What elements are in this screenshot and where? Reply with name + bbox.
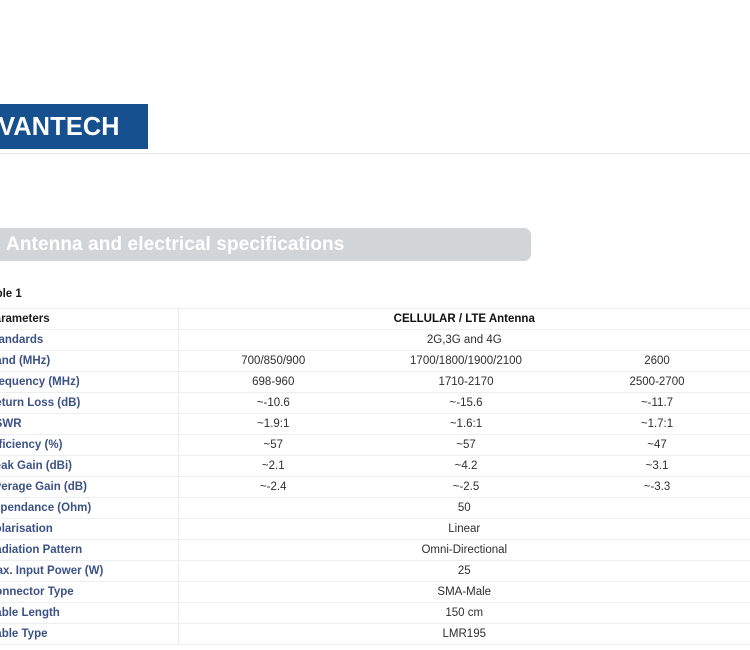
table-row-label: Cable Type bbox=[0, 624, 178, 645]
table-row-label: Peak Gain (dBi) bbox=[0, 456, 178, 477]
table-row: Efficiency (%)~57~57~47 bbox=[0, 435, 750, 456]
table-row-label: Parameters bbox=[0, 309, 178, 330]
table-row: Standards2G,3G and 4G bbox=[0, 330, 750, 351]
table-row: ParametersCELLULAR / LTE Antenna bbox=[0, 309, 750, 330]
table-cell: CELLULAR / LTE Antenna bbox=[178, 309, 750, 330]
table-cell: ~-3.3 bbox=[564, 477, 750, 498]
table-row-label: Impendance (Ohm) bbox=[0, 498, 178, 519]
table-cell: ~-11.7 bbox=[564, 393, 750, 414]
table-row: Cable Length150 cm bbox=[0, 603, 750, 624]
table-row: Frequency (MHz)698-9601710-21702500-2700 bbox=[0, 372, 750, 393]
table-cell: 1710-2170 bbox=[368, 372, 564, 393]
table-cell: ~1.9:1 bbox=[178, 414, 368, 435]
table-row: Return Loss (dB)~-10.6~-15.6~-11.7 bbox=[0, 393, 750, 414]
table-cell: 150 cm bbox=[178, 603, 750, 624]
table-row-label: Cable Length bbox=[0, 603, 178, 624]
table-row-label: Efficiency (%) bbox=[0, 435, 178, 456]
table-row-label: Radiation Pattern bbox=[0, 540, 178, 561]
antenna-spec-table: ParametersCELLULAR / LTE AntennaStandard… bbox=[0, 308, 750, 645]
table-cell: ~57 bbox=[178, 435, 368, 456]
table-cell: ~3.1 bbox=[564, 456, 750, 477]
table-row: Max. Input Power (W)25 bbox=[0, 561, 750, 582]
table-cell: Linear bbox=[178, 519, 750, 540]
table-row: VSWR~1.9:1~1.6:1~1.7:1 bbox=[0, 414, 750, 435]
table-row: Peak Gain (dBi)~2.1~4.2~3.1 bbox=[0, 456, 750, 477]
table-cell: ~57 bbox=[368, 435, 564, 456]
advantech-logo-text: ADVANTECH bbox=[0, 111, 120, 142]
table-row: Connector TypeSMA-Male bbox=[0, 582, 750, 603]
table-cell: Omni-Directional bbox=[178, 540, 750, 561]
table-cell: ~-15.6 bbox=[368, 393, 564, 414]
table-cell: 1700/1800/1900/2100 bbox=[368, 351, 564, 372]
table-cell: ~2.1 bbox=[178, 456, 368, 477]
table-row-label: Standards bbox=[0, 330, 178, 351]
header-divider bbox=[0, 153, 750, 154]
table-cell: ~4.2 bbox=[368, 456, 564, 477]
section-header-bar: Antenna and electrical specifications bbox=[0, 228, 531, 261]
table-row-label: Polarisation bbox=[0, 519, 178, 540]
table-row-label: Average Gain (dB) bbox=[0, 477, 178, 498]
section-header-title: Antenna and electrical specifications bbox=[0, 234, 344, 256]
table-cell: ~-10.6 bbox=[178, 393, 368, 414]
advantech-logo-banner: ADVANTECH bbox=[0, 104, 148, 149]
table-row-label: Max. Input Power (W) bbox=[0, 561, 178, 582]
table-cell: 2600 bbox=[564, 351, 750, 372]
table-cell: LMR195 bbox=[178, 624, 750, 645]
table-cell: 2G,3G and 4G bbox=[178, 330, 750, 351]
table-row: Cable TypeLMR195 bbox=[0, 624, 750, 645]
table-row-label: Band (MHz) bbox=[0, 351, 178, 372]
table-row-label: Frequency (MHz) bbox=[0, 372, 178, 393]
table-cell: 698-960 bbox=[178, 372, 368, 393]
table-cell: ~-2.4 bbox=[178, 477, 368, 498]
table-row: PolarisationLinear bbox=[0, 519, 750, 540]
table-row: Radiation PatternOmni-Directional bbox=[0, 540, 750, 561]
table-cell: 2500-2700 bbox=[564, 372, 750, 393]
table-row-label: Return Loss (dB) bbox=[0, 393, 178, 414]
table-row-label: VSWR bbox=[0, 414, 178, 435]
table-cell: ~47 bbox=[564, 435, 750, 456]
table-cell: ~-2.5 bbox=[368, 477, 564, 498]
table-row: Average Gain (dB)~-2.4~-2.5~-3.3 bbox=[0, 477, 750, 498]
table-caption: Table 1 bbox=[0, 288, 22, 300]
table-cell: ~1.6:1 bbox=[368, 414, 564, 435]
table-cell: ~1.7:1 bbox=[564, 414, 750, 435]
table-cell: 50 bbox=[178, 498, 750, 519]
table-cell: 700/850/900 bbox=[178, 351, 368, 372]
table-cell: 25 bbox=[178, 561, 750, 582]
table-cell: SMA-Male bbox=[178, 582, 750, 603]
table-row: Impendance (Ohm)50 bbox=[0, 498, 750, 519]
table-row-label: Connector Type bbox=[0, 582, 178, 603]
table-row: Band (MHz)700/850/9001700/1800/1900/2100… bbox=[0, 351, 750, 372]
